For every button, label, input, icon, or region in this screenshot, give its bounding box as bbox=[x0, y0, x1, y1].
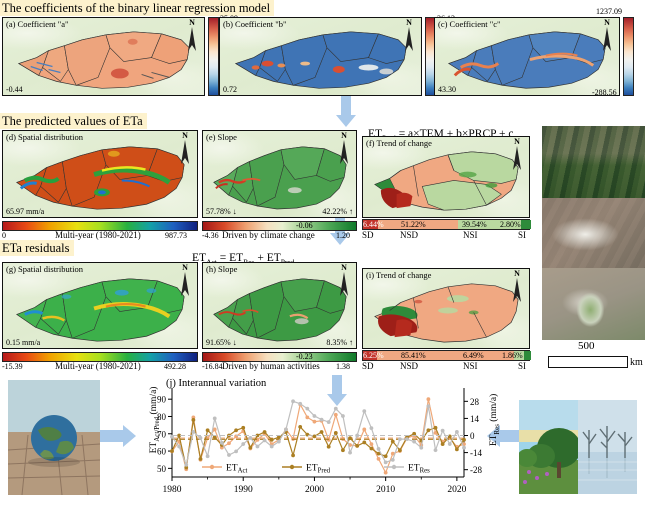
trend-pct-f-2: 39.54% bbox=[462, 220, 487, 230]
colorbar-d-caption: Multi-year (1980-2021) bbox=[55, 231, 141, 240]
chart-point-ET_Pred-11[interactable] bbox=[248, 446, 252, 450]
colorbar-h-mid: -0.23 bbox=[296, 352, 313, 361]
colorbar-h-min: -16.84 bbox=[202, 362, 223, 371]
trend-pct-i-3: 1.86% bbox=[502, 351, 523, 361]
trend-pct-i-2: 6.49% bbox=[463, 351, 484, 361]
map-shape-b bbox=[220, 18, 421, 96]
trend-name-f-0: SD bbox=[362, 230, 374, 240]
chart-point-ET_Pred-22[interactable] bbox=[327, 445, 331, 449]
trend-name-f-3: SI bbox=[518, 230, 526, 240]
chart-point-ET_Act-20[interactable] bbox=[313, 420, 317, 424]
colorbar-h-max: 1.38 bbox=[336, 362, 350, 371]
arrow-right-from-earth-photo bbox=[100, 425, 136, 447]
north-label-c: N bbox=[599, 19, 615, 27]
chart-point-ET_Res-27[interactable] bbox=[362, 409, 366, 413]
panel-min-g: 0.15 mm/a bbox=[6, 338, 40, 347]
chart-point-ET_Pred-0[interactable] bbox=[170, 449, 174, 453]
trend-name-i-0: SD bbox=[362, 361, 374, 371]
chart-point-ET_Pred-5[interactable] bbox=[206, 428, 210, 432]
trend-pct-i-1: 85.41% bbox=[401, 351, 426, 361]
trend-pct-i-0: 6.25% bbox=[363, 351, 384, 361]
colorbar-e-caption: Driven by climate change bbox=[222, 231, 315, 240]
map-shape-d bbox=[3, 131, 197, 218]
chart-interannual-variation[interactable]: ETAct/Pred (mm/a) ETRes (mm/a) (j) Inter… bbox=[132, 380, 504, 509]
chart-point-ET_Act-27[interactable] bbox=[362, 428, 366, 432]
section-banner-residuals: ETa residuals bbox=[0, 240, 74, 256]
colorbar-g-max: 492.28 bbox=[164, 362, 186, 371]
north-label-i: N bbox=[509, 270, 525, 278]
chart-point-ET_Res-16[interactable] bbox=[284, 428, 288, 432]
chart-point-ET_Res-14[interactable] bbox=[270, 445, 274, 449]
chart-point-ET_Res-34[interactable] bbox=[412, 440, 416, 444]
panel-label-d: (d) Spatial distribution bbox=[6, 132, 83, 142]
panel-label-g: (g) Spatial distribution bbox=[6, 264, 83, 274]
north-label-g: N bbox=[177, 264, 193, 272]
chart-point-ET_Act-19[interactable] bbox=[305, 415, 309, 419]
chart-plot-area[interactable]: 5060708090-28-14014281980199020002010202… bbox=[132, 380, 504, 509]
trend-name-f-1: NSD bbox=[400, 230, 418, 240]
panel-min-h: 91.65% ↓ bbox=[206, 338, 237, 347]
chart-point-ET_Res-4[interactable] bbox=[199, 436, 203, 440]
north-arrow-c: N bbox=[599, 19, 615, 53]
chart-point-ET_Pred-32[interactable] bbox=[398, 448, 402, 452]
colorbar-d-min: 0 bbox=[2, 231, 6, 240]
chart-point-ET_Pred-38[interactable] bbox=[441, 442, 445, 446]
chart-yticklabel-left-1: 60 bbox=[157, 447, 167, 457]
north-arrow-b: N bbox=[401, 19, 417, 53]
colorbar-e-min: -4.36 bbox=[202, 231, 219, 240]
chart-point-ET_Res-1[interactable] bbox=[177, 445, 181, 449]
photo-satellite-lake bbox=[542, 268, 645, 340]
chart-yticklabel-right-0: -28 bbox=[470, 465, 482, 475]
trend-pct-f-0: 6.44% bbox=[363, 220, 384, 230]
colorbar-e-max: 1.20 bbox=[336, 231, 350, 240]
chart-point-ET_Res-13[interactable] bbox=[263, 438, 267, 442]
north-arrow-f: N bbox=[509, 138, 525, 172]
chart-point-ET_Pred-28[interactable] bbox=[370, 447, 374, 451]
chart-xticklabel-1: 1990 bbox=[234, 485, 253, 495]
chart-point-ET_Act-23[interactable] bbox=[334, 413, 338, 417]
panel-label-b: (b) Coefficient "b" bbox=[223, 19, 286, 29]
trend-pct-f-1: 51.22% bbox=[401, 220, 426, 230]
panel-min-a: -0.44 bbox=[6, 85, 23, 94]
map-panel-e[interactable]: (e) Slope 57.78% ↓ 42.22% ↑ N bbox=[202, 130, 357, 218]
chart-point-ET_Res-5[interactable] bbox=[206, 454, 210, 458]
arrow-down-to-predicted bbox=[336, 95, 356, 127]
panel-min-e: 57.78% ↓ bbox=[206, 207, 237, 216]
chart-point-ET_Pred-30[interactable] bbox=[384, 454, 388, 458]
map-panel-b[interactable]: (b) Coefficient "b" 0.72 N bbox=[219, 17, 422, 96]
chart-yticklabel-left-2: 70 bbox=[157, 429, 167, 439]
chart-point-ET_Res-12[interactable] bbox=[256, 445, 260, 449]
scale-bar-unit: km bbox=[630, 358, 643, 368]
chart-point-ET_Res-17[interactable] bbox=[291, 399, 295, 403]
trend-name-i-2: NSI bbox=[463, 361, 478, 371]
colorbar-d-max: 987.73 bbox=[165, 231, 187, 240]
chart-point-ET_Res-10[interactable] bbox=[241, 442, 245, 446]
panel-label-f: (f) Trend of change bbox=[366, 138, 432, 148]
panel-label-c: (c) Coefficient "c" bbox=[438, 19, 500, 29]
colorbar-c-max: 1237.09 bbox=[596, 7, 622, 16]
chart-point-ET_Res-8[interactable] bbox=[227, 453, 231, 457]
chart-point-ET_Pred-27[interactable] bbox=[362, 441, 366, 445]
map-shape-h bbox=[203, 263, 356, 349]
panel-label-a: (a) Coefficient "a" bbox=[6, 19, 68, 29]
chart-point-ET_Res-30[interactable] bbox=[384, 460, 388, 464]
chart-point-ET_Res-24[interactable] bbox=[341, 414, 345, 418]
trend-legend-i: 6.25% 85.41% 6.49% 1.86% bbox=[362, 350, 530, 361]
north-label-e: N bbox=[336, 132, 352, 140]
chart-legend-label-ET_Act[interactable]: ETAct bbox=[226, 464, 248, 475]
chart-point-ET_Res-29[interactable] bbox=[377, 447, 381, 451]
north-arrow-d: N bbox=[177, 132, 193, 166]
chart-point-ET_Res-38[interactable] bbox=[441, 429, 445, 433]
chart-point-ET_Act-28[interactable] bbox=[370, 442, 374, 446]
chart-point-ET_Pred-24[interactable] bbox=[341, 448, 345, 452]
chart-point-ET_Pred-21[interactable] bbox=[320, 430, 324, 434]
map-panel-f[interactable]: (f) Trend of change N bbox=[362, 136, 530, 218]
chart-xticklabel-4: 2020 bbox=[447, 485, 466, 495]
chart-point-ET_Res-28[interactable] bbox=[370, 426, 374, 430]
chart-point-ET_Res-40[interactable] bbox=[455, 430, 459, 434]
colorbar-a bbox=[208, 17, 219, 96]
map-shape-a bbox=[3, 18, 204, 96]
chart-point-ET_Res-11[interactable] bbox=[248, 436, 252, 440]
chart-point-ET_Res-36[interactable] bbox=[426, 404, 430, 408]
map-shape-i bbox=[363, 269, 529, 349]
north-label-h: N bbox=[336, 264, 352, 272]
panel-min-b: 0.72 bbox=[223, 85, 237, 94]
chart-point-ET_Pred-37[interactable] bbox=[434, 426, 438, 430]
chart-point-ET_Pred-9[interactable] bbox=[234, 428, 238, 432]
chart-point-ET_Res-39[interactable] bbox=[448, 442, 452, 446]
map-shape-e bbox=[203, 131, 356, 218]
chart-legend-label-ET_Pred[interactable]: ETPred bbox=[306, 464, 331, 475]
panel-label-e: (e) Slope bbox=[206, 132, 237, 142]
chart-point-ET_Res-22[interactable] bbox=[327, 420, 331, 424]
north-arrow-h: N bbox=[336, 264, 352, 298]
map-shape-g bbox=[3, 263, 197, 349]
chart-point-ET_Res-41[interactable] bbox=[462, 446, 466, 450]
north-arrow-e: N bbox=[336, 132, 352, 166]
panel-min-d: 65.97 mm/a bbox=[6, 207, 44, 216]
chart-legend-marker-ET_Act[interactable] bbox=[210, 465, 214, 469]
chart-point-ET_Pred-13[interactable] bbox=[263, 430, 267, 434]
map-panel-a[interactable]: (a) Coefficient "a" -0.44 N bbox=[2, 17, 205, 96]
panel-min-c: 43.30 bbox=[438, 85, 456, 94]
map-shape-f bbox=[363, 137, 529, 218]
chart-point-ET_Pred-31[interactable] bbox=[391, 440, 395, 444]
chart-point-ET_Pred-3[interactable] bbox=[191, 418, 195, 422]
scale-bar bbox=[548, 356, 628, 368]
panel-label-h: (h) Slope bbox=[206, 264, 237, 274]
scale-bar-value: 500 bbox=[578, 341, 595, 351]
chart-point-ET_Res-7[interactable] bbox=[220, 441, 224, 445]
chart-point-ET_Res-25[interactable] bbox=[348, 451, 352, 455]
section-banner-predicted: The predicted values of ETa bbox=[0, 113, 147, 129]
chart-point-ET_Act-8[interactable] bbox=[227, 441, 231, 445]
north-label-d: N bbox=[177, 132, 193, 140]
chart-point-ET_Act-30[interactable] bbox=[384, 471, 388, 475]
chart-yticklabel-right-2: 0 bbox=[470, 431, 475, 441]
chart-yticklabel-right-4: 28 bbox=[470, 397, 480, 407]
map-panel-h[interactable]: (h) Slope 91.65% ↓ 8.35% ↑ N bbox=[202, 262, 357, 349]
chart-yticklabel-right-3: 14 bbox=[470, 414, 480, 424]
chart-point-ET_Res-21[interactable] bbox=[320, 418, 324, 422]
trend-name-i-3: SI bbox=[518, 361, 526, 371]
panel-max-e: 42.22% ↑ bbox=[322, 207, 353, 216]
colorbar-h-caption: Driven by human activities bbox=[222, 362, 320, 371]
map-panel-g[interactable]: (g) Spatial distribution 0.15 mm/a N bbox=[2, 262, 198, 349]
chart-yticklabel-right-1: -14 bbox=[470, 448, 482, 458]
photo-satellite-saltflat bbox=[542, 198, 645, 268]
chart-yticklabel-left-4: 90 bbox=[157, 395, 167, 405]
photo-forest-versus-flood bbox=[519, 400, 637, 494]
north-label-a: N bbox=[184, 19, 200, 27]
colorbar-g-caption: Multi-year (1980-2021) bbox=[55, 362, 141, 371]
map-shape-c bbox=[435, 18, 619, 96]
chart-point-ET_Res-33[interactable] bbox=[405, 437, 409, 441]
chart-point-ET_Res-3[interactable] bbox=[191, 430, 195, 434]
colorbar-e-mid: -0.06 bbox=[296, 221, 313, 230]
chart-point-ET_Act-36[interactable] bbox=[426, 397, 430, 401]
trend-legend-f: 6.44% 51.22% 39.54% 2.80% bbox=[362, 219, 530, 230]
chart-point-ET_Res-31[interactable] bbox=[391, 458, 395, 462]
north-arrow-a: N bbox=[184, 19, 200, 53]
panel-max-h: 8.35% ↑ bbox=[326, 338, 353, 347]
trend-pct-f-3: 2.80% bbox=[500, 220, 521, 230]
colorbar-g-min: -15.39 bbox=[2, 362, 23, 371]
colorbar-c-min: -288.56 bbox=[592, 88, 617, 97]
chart-point-ET_Pred-23[interactable] bbox=[334, 431, 338, 435]
chart-legend-marker-ET_Res[interactable] bbox=[392, 465, 396, 469]
chart-legend-label-ET_Res[interactable]: ETRes bbox=[408, 464, 430, 475]
photo-satellite-farmland bbox=[542, 126, 645, 198]
trend-seg-i-1 bbox=[377, 351, 514, 360]
chart-point-ET_Res-37[interactable] bbox=[434, 448, 438, 452]
chart-point-ET_Act-29[interactable] bbox=[377, 457, 381, 461]
chart-point-ET_Res-20[interactable] bbox=[313, 414, 317, 418]
north-label-f: N bbox=[509, 138, 525, 146]
north-label-b: N bbox=[401, 19, 417, 27]
chart-xticklabel-2: 2000 bbox=[305, 485, 324, 495]
trend-name-i-1: NSD bbox=[400, 361, 418, 371]
chart-point-ET_Pred-18[interactable] bbox=[298, 425, 302, 429]
chart-point-ET_Pred-4[interactable] bbox=[199, 457, 203, 461]
chart-point-ET_Pred-17[interactable] bbox=[291, 453, 295, 457]
chart-point-ET_Pred-20[interactable] bbox=[313, 434, 317, 438]
chart-xticklabel-0: 1980 bbox=[163, 485, 182, 495]
chart-point-ET_Res-18[interactable] bbox=[298, 402, 302, 406]
chart-point-ET_Pred-40[interactable] bbox=[455, 447, 459, 451]
chart-point-ET_Res-6[interactable] bbox=[213, 417, 217, 421]
chart-point-ET_Pred-36[interactable] bbox=[426, 428, 430, 432]
chart-yticklabel-left-0: 50 bbox=[157, 464, 167, 474]
map-panel-i[interactable]: (i) Trend of change N bbox=[362, 268, 530, 349]
chart-legend-marker-ET_Pred[interactable] bbox=[290, 465, 294, 469]
chart-point-ET_Res-35[interactable] bbox=[419, 446, 423, 450]
chart-point-ET_Res-23[interactable] bbox=[334, 407, 338, 411]
north-arrow-g: N bbox=[177, 264, 193, 298]
panel-label-i: (i) Trend of change bbox=[366, 270, 431, 280]
chart-point-ET_Res-32[interactable] bbox=[398, 437, 402, 441]
chart-yticklabel-left-3: 80 bbox=[157, 412, 167, 422]
chart-point-ET_Pred-10[interactable] bbox=[241, 426, 245, 430]
chart-point-ET_Res-15[interactable] bbox=[277, 440, 281, 444]
trend-seg-f-3 bbox=[521, 220, 531, 229]
colorbar-c bbox=[623, 17, 634, 96]
map-panel-d[interactable]: (d) Spatial distribution 65.97 mm/a N bbox=[2, 130, 198, 218]
chart-point-ET_Pred-26[interactable] bbox=[355, 444, 359, 448]
map-panel-c[interactable]: (c) Coefficient "c" 43.30 N bbox=[434, 17, 620, 96]
chart-xticklabel-3: 2010 bbox=[376, 485, 395, 495]
trend-seg-i-3 bbox=[524, 351, 531, 360]
trend-name-f-2: NSI bbox=[463, 230, 478, 240]
photo-earth-on-cracked-soil bbox=[8, 380, 100, 495]
north-arrow-i: N bbox=[509, 270, 525, 304]
chart-point-ET_Res-9[interactable] bbox=[234, 449, 238, 453]
chart-point-ET_Res-19[interactable] bbox=[305, 407, 309, 411]
chart-point-ET_Res-2[interactable] bbox=[184, 463, 188, 467]
